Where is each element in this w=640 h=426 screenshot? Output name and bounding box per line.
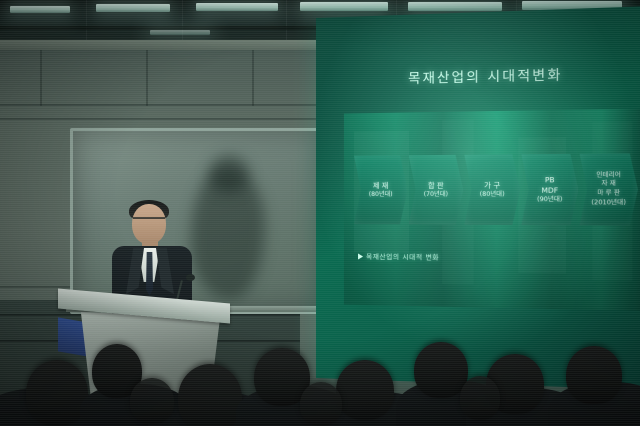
audience-head bbox=[336, 360, 394, 420]
audience-head bbox=[414, 342, 468, 398]
chevron-step: 합 판 (70년대) bbox=[409, 155, 464, 225]
chevron-label: PB bbox=[545, 174, 555, 185]
ceiling-light-icon bbox=[96, 4, 170, 12]
wall-seam bbox=[0, 104, 320, 106]
slide-chevron-diagram: 제 재 (80년대) 합 판 (70년대) 가 구 (80년대) PB MDF … bbox=[354, 153, 639, 225]
audience-head bbox=[178, 364, 242, 426]
glasses-icon bbox=[133, 217, 165, 226]
audience-head bbox=[460, 376, 500, 420]
audience-head bbox=[566, 346, 622, 404]
chevron-label: 마 루 판 bbox=[597, 190, 620, 199]
ceiling-light-icon bbox=[300, 2, 388, 11]
wall-seam bbox=[146, 50, 148, 106]
speaker-necktie bbox=[146, 252, 153, 296]
chevron-step: 인테리어 자 재 마 루 판 (2010년대) bbox=[580, 153, 638, 225]
ceiling-light-icon bbox=[10, 6, 70, 13]
microphone-icon bbox=[186, 274, 195, 281]
wall-seam bbox=[40, 50, 42, 106]
wall-seam bbox=[252, 50, 254, 106]
ceiling-light-icon bbox=[196, 3, 278, 11]
ceiling-light-icon bbox=[408, 2, 502, 11]
chevron-sublabel: (80년대) bbox=[480, 190, 505, 199]
chevron-label: 인테리어 bbox=[596, 171, 621, 180]
photo-scene: 목재산업의 시대적변화 제 재 (80년대) 합 판 (70년대) 가 구 (8… bbox=[0, 0, 640, 426]
chevron-sublabel: (90년대) bbox=[537, 196, 562, 205]
ceiling-light-icon bbox=[150, 30, 210, 35]
audience-heads bbox=[0, 330, 640, 426]
chevron-label: 가 구 bbox=[484, 180, 500, 191]
wall-seam bbox=[0, 118, 320, 120]
person-shadow-head bbox=[209, 155, 249, 193]
chevron-label: 합 판 bbox=[428, 180, 444, 190]
chevron-sublabel: (70년대) bbox=[424, 191, 448, 200]
chevron-step: 가 구 (80년대) bbox=[464, 154, 520, 225]
chevron-label: 자 재 bbox=[601, 180, 615, 189]
chevron-label: 제 재 bbox=[373, 180, 388, 190]
audience-head bbox=[26, 360, 88, 426]
chevron-label: MDF bbox=[541, 185, 558, 196]
chevron-sublabel: (2010년대) bbox=[591, 199, 625, 208]
chevron-step: PB MDF (90년대) bbox=[521, 154, 578, 226]
triangle-bullet-icon bbox=[358, 253, 363, 259]
chevron-sublabel: (80년대) bbox=[369, 191, 393, 200]
audience-head bbox=[130, 378, 174, 424]
audience-head bbox=[300, 382, 342, 426]
slide-title: 목재산업의 시대적변화 bbox=[362, 62, 612, 88]
slide-caption-text: 목재산업의 시대적 변화 bbox=[366, 253, 439, 262]
chevron-step: 제 재 (80년대) bbox=[354, 155, 408, 224]
